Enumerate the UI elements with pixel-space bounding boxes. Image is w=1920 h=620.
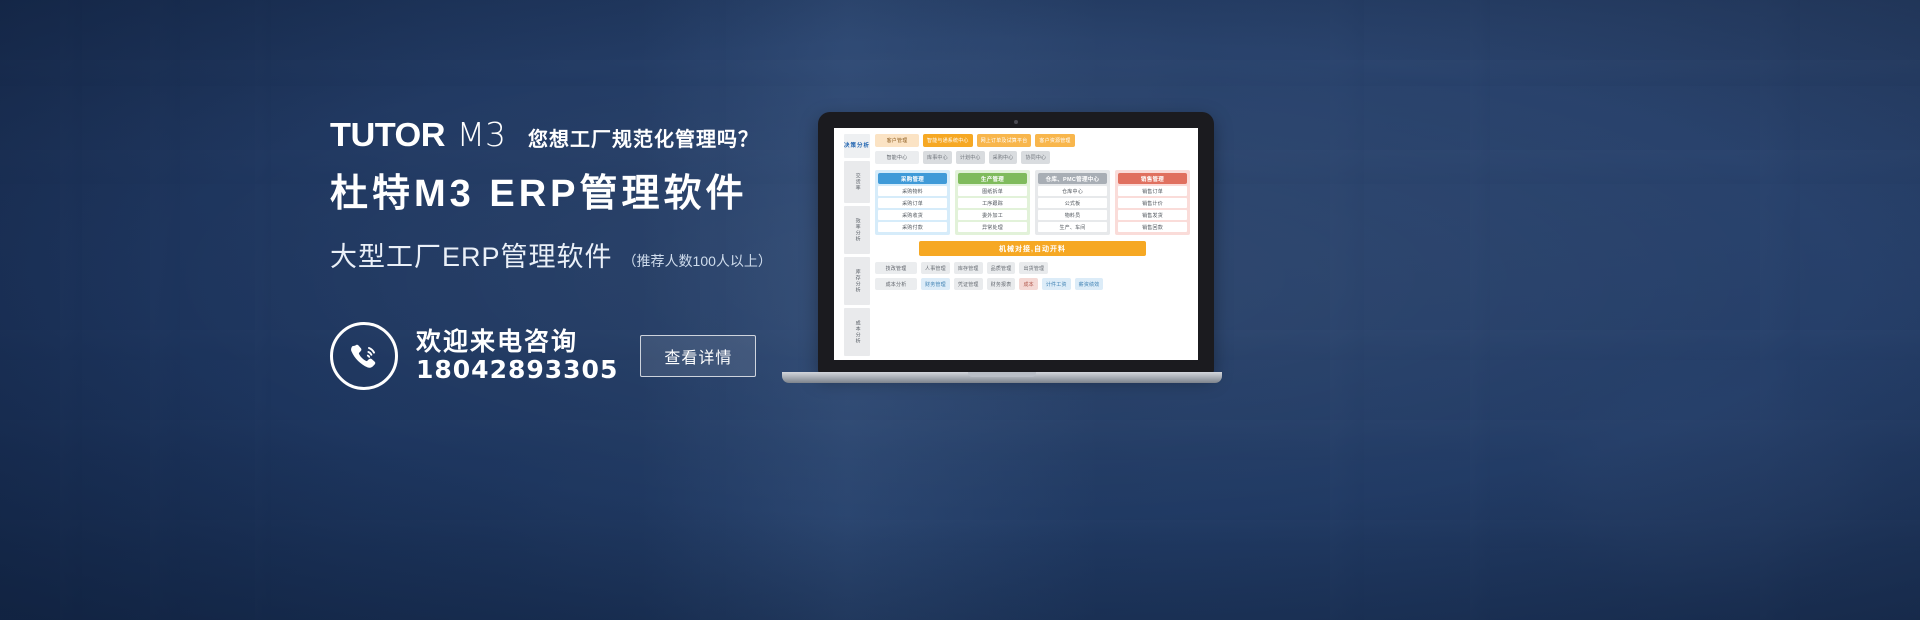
text-column: TUTOR M3 您想工厂规范化管理吗？ 杜特M3 ERP管理软件 大型工厂ER… [330,118,850,274]
erp-tag: 财务管理 [921,278,950,290]
banner-content: TUTOR M3 您想工厂规范化管理吗？ 杜特M3 ERP管理软件 大型工厂ER… [0,0,1920,620]
laptop-lid: 决策分析 交货率 效率分析 库存分析 成本分析 客户管理 智能与通系统中心 [818,112,1214,374]
erp-tag: 人事管理 [921,262,950,274]
erp-tag: 客户资源管理 [1035,134,1074,147]
erp-column-warehouse-pmc: 仓库、PMC管理中心 仓库中心 公式板 物料员 生产、车间 [1035,170,1110,235]
contact-cta-row: 欢迎来电咨询 18042893305 查看详情 [330,322,756,390]
logo-m3-text: M3 [457,118,506,151]
erp-diagram: 决策分析 交货率 效率分析 库存分析 成本分析 客户管理 智能与通系统中心 [834,128,1198,360]
erp-tag: 薪资绩效 [1075,278,1104,290]
erp-sidebar-item-cost: 成本分析 [844,308,870,356]
erp-tag: 计划中心 [956,151,985,164]
erp-column-cell: 销售回款 [1118,222,1187,232]
erp-column-cell: 仓库中心 [1038,186,1107,196]
erp-column-cell: 公式板 [1038,198,1107,208]
erp-column-cell: 采购收货 [878,210,947,220]
erp-sidebar-item-delivery: 交货率 [844,161,870,203]
erp-module-columns: 采购管理 采购物料 采购订单 采购收货 采购付款 生产管理 图纸拆单 [875,170,1190,235]
phone-ring-icon [330,322,398,390]
erp-column-cell: 委外加工 [958,210,1027,220]
erp-column-cell: 物料员 [1038,210,1107,220]
erp-row-finance: 成本分析 财务管理 凭证管理 财务报表 成本 计件工资 薪资绩效 [875,278,1190,290]
laptop-mockup: 决策分析 交货率 效率分析 库存分析 成本分析 客户管理 智能与通系统中心 [782,112,1222,392]
erp-column-cell: 销售发货 [1118,210,1187,220]
erp-tag: 财务报表 [987,278,1016,290]
erp-row-customer: 客户管理 智能与通系统中心 网上订单及试算平台 客户资源管理 [875,134,1190,147]
erp-row-label: 智能中心 [875,151,919,164]
subtitle-note: （推荐人数100人以上） [623,251,772,271]
erp-row-label: 技改管理 [875,262,917,274]
erp-sidebar-item-inventory: 库存分析 [844,257,870,305]
erp-tag: 凭证管理 [954,278,983,290]
erp-column-purchasing: 采购管理 采购物料 采购订单 采购收货 采购付款 [875,170,950,235]
laptop-base-notch [968,372,1036,377]
erp-column-title: 仓库、PMC管理中心 [1038,173,1107,184]
logo-tutor-text: TUTOR [330,118,445,151]
erp-column-cell: 销售订单 [1118,186,1187,196]
erp-column-cell: 销售计价 [1118,198,1187,208]
erp-tag: 库存管理 [954,262,983,274]
laptop-screen: 决策分析 交货率 效率分析 库存分析 成本分析 客户管理 智能与通系统中心 [834,128,1198,360]
erp-column-sales: 销售管理 销售订单 销售计价 销售发货 销售回款 [1115,170,1190,235]
erp-tag: 网上订单及试算平台 [977,134,1032,147]
erp-tag: 库事中心 [923,151,952,164]
erp-column-title: 采购管理 [878,173,947,184]
erp-sidebar: 决策分析 交货率 效率分析 库存分析 成本分析 [844,134,870,356]
erp-tag: 出货管理 [1019,262,1048,274]
erp-sidebar-item-efficiency: 效率分析 [844,206,870,254]
brand-tagline: 您想工厂规范化管理吗？ [528,130,759,151]
erp-sidebar-item-decision: 决策分析 [844,134,870,158]
erp-column-cell: 采购物料 [878,186,947,196]
promo-banner: TUTOR M3 您想工厂规范化管理吗？ 杜特M3 ERP管理软件 大型工厂ER… [0,0,1920,620]
erp-column-cell: 图纸拆单 [958,186,1027,196]
erp-row-operations: 技改管理 人事管理 库存管理 品质管理 出货管理 [875,262,1190,274]
brand-row: TUTOR M3 您想工厂规范化管理吗？ [330,118,850,151]
erp-column-title: 销售管理 [1118,173,1187,184]
page-title: 杜特M3 ERP管理软件 [330,173,850,217]
erp-column-cell: 生产、车间 [1038,222,1107,232]
erp-column-cell: 采购订单 [878,198,947,208]
webcam-icon [1014,120,1018,124]
erp-row-label: 成本分析 [875,278,917,290]
erp-tag: 品质管理 [987,262,1016,274]
erp-column-title: 生产管理 [958,173,1027,184]
view-details-button[interactable]: 查看详情 [640,335,756,377]
erp-tag: 采购中心 [989,151,1018,164]
erp-column-cell: 采购付款 [878,222,947,232]
erp-tag: 协同中心 [1021,151,1050,164]
subtitle-row: 大型工厂ERP管理软件 （推荐人数100人以上） [330,235,850,274]
erp-row-smartcenter: 智能中心 库事中心 计划中心 采购中心 协同中心 [875,151,1190,164]
contact-welcome-label: 欢迎来电咨询 [416,328,618,356]
subtitle-text: 大型工厂ERP管理软件 [330,235,613,274]
erp-column-cell: 异常处理 [958,222,1027,232]
erp-tag: 智能与通系统中心 [923,134,973,147]
erp-column-production: 生产管理 图纸拆单 工序跟踪 委外加工 异常处理 [955,170,1030,235]
erp-column-cell: 工序跟踪 [958,198,1027,208]
erp-highlight-banner: 机械对接,自动开料 [919,241,1146,256]
erp-main-area: 客户管理 智能与通系统中心 网上订单及试算平台 客户资源管理 智能中心 库事中心… [875,134,1190,356]
contact-phone-number[interactable]: 18042893305 [416,356,618,384]
erp-row-label: 客户管理 [875,134,919,147]
contact-text-block: 欢迎来电咨询 18042893305 [416,328,618,384]
erp-tag: 计件工资 [1042,278,1071,290]
erp-tag: 成本 [1019,278,1037,290]
